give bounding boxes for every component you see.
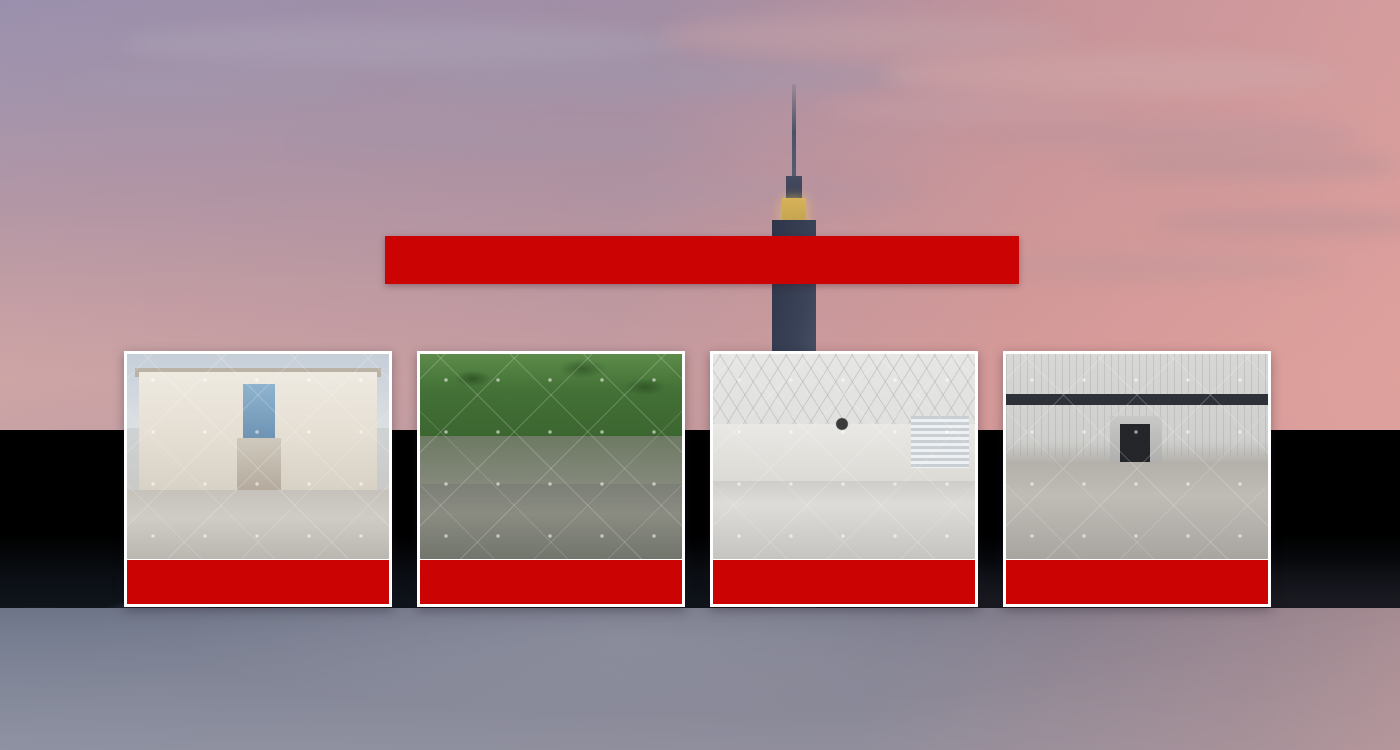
office-floor [713, 481, 975, 559]
card-label-value [420, 560, 682, 604]
feature-card-training[interactable] [1003, 351, 1271, 607]
window-blinds [911, 416, 969, 468]
factory-yard [1006, 462, 1268, 559]
card-label-system [713, 560, 975, 604]
green-hills [420, 354, 682, 436]
aerial-plant-photo [420, 354, 682, 559]
warehouse-door-opening [1120, 424, 1150, 462]
company-headquarters-photo [127, 354, 389, 559]
plant-yard [420, 484, 682, 559]
building-glass-facade [243, 384, 275, 438]
office-interior-photo [713, 354, 975, 559]
courtyard-ground [127, 490, 389, 559]
promo-banner [0, 0, 1400, 750]
card-label-service [127, 560, 389, 604]
warehouse-window-strip [1006, 394, 1268, 405]
feature-card-service[interactable] [124, 351, 392, 607]
feature-card-value[interactable] [417, 351, 685, 607]
tower-top [786, 176, 802, 198]
wall-decal [825, 406, 859, 436]
workers-training-photo [1006, 354, 1268, 559]
feature-card-row [124, 351, 1278, 607]
water-sheen [0, 608, 1400, 750]
card-label-training [1006, 560, 1268, 604]
building-entrance [237, 438, 281, 490]
subtitle-band [385, 236, 1019, 284]
feature-card-system[interactable] [710, 351, 978, 607]
